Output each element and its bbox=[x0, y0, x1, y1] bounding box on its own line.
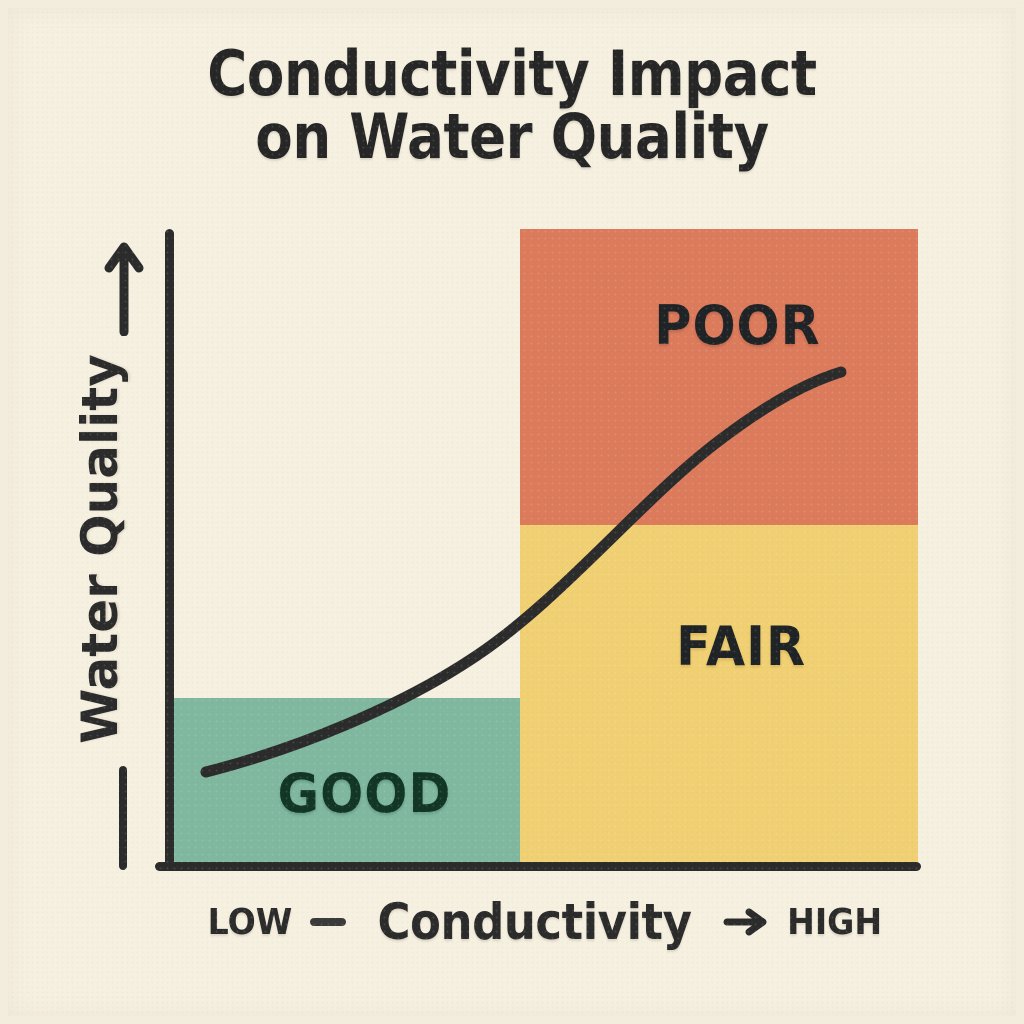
title-line-1: Conductivity Impact bbox=[207, 37, 816, 110]
y-axis-line bbox=[165, 229, 174, 869]
zone-fair bbox=[520, 525, 918, 866]
x-axis-high-label: HIGH bbox=[787, 902, 882, 943]
dash-icon bbox=[310, 918, 346, 926]
x-axis-line bbox=[155, 862, 921, 871]
zone-label-fair: FAIR bbox=[676, 615, 806, 678]
title-line-2: on Water Quality bbox=[61, 105, 962, 168]
page-title: Conductivity Impact on Water Quality bbox=[61, 42, 962, 168]
zone-poor bbox=[520, 229, 918, 525]
x-axis-caption: LOW Conductivity HIGH bbox=[150, 893, 940, 951]
x-axis-low-label: LOW bbox=[208, 902, 293, 943]
zone-label-good: GOOD bbox=[278, 762, 452, 825]
infographic-poster: Conductivity Impact on Water Quality POO… bbox=[0, 0, 1024, 1024]
y-axis-label: Water Quality bbox=[71, 289, 129, 809]
x-axis-label: Conductivity bbox=[377, 893, 691, 951]
zone-label-poor: POOR bbox=[654, 294, 820, 357]
arrow-right-icon bbox=[723, 907, 769, 937]
